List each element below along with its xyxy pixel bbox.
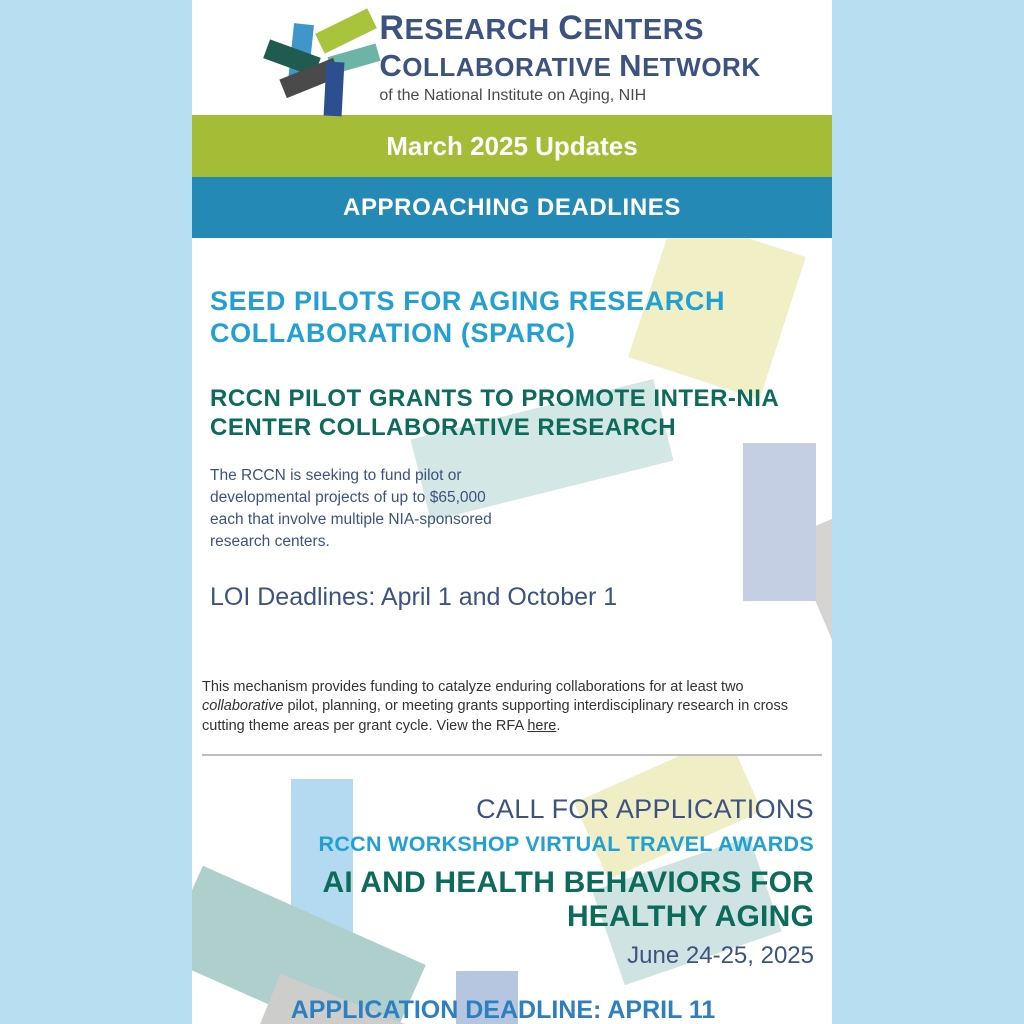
mechanism-text-part1: This mechanism provides funding to catal…: [202, 679, 744, 695]
logo-text-network: ETWORK: [642, 52, 761, 82]
section-sparc: SEED PILOTS FOR AGING RESEARCH COLLABORA…: [192, 238, 832, 670]
approaching-deadlines-banner: APPROACHING DEADLINES: [192, 177, 832, 238]
logo-text-research: ESEARCH: [404, 14, 558, 46]
logo: RESEARCH CENTERS COLLABORATIVE NETWORK o…: [263, 6, 760, 110]
sparc-content: SEED PILOTS FOR AGING RESEARCH COLLABORA…: [192, 238, 832, 612]
sparc-loi-deadlines: LOI Deadlines: April 1 and October 1: [210, 583, 832, 612]
logo-shape-navy-bar-icon: [324, 61, 345, 116]
rfa-here-link[interactable]: here: [527, 718, 556, 734]
rccn-logo-mark-icon: [263, 6, 367, 110]
travel-awards-content: CALL FOR APPLICATIONS RCCN WORKSHOP VIRT…: [192, 756, 832, 1024]
application-deadline-text: APPLICATION DEADLINE: APRIL 11: [192, 996, 814, 1024]
travel-awards-title: AI AND HEALTH BEHAVIORS FOR HEALTHY AGIN…: [192, 866, 814, 935]
logo-cap-c2: C: [379, 48, 402, 83]
logo-text-centers: ENTERS: [583, 14, 704, 46]
mechanism-text-italic: collaborative: [202, 698, 283, 714]
logo-line-1: RESEARCH CENTERS: [379, 11, 760, 45]
mechanism-paragraph: This mechanism provides funding to catal…: [192, 670, 832, 736]
logo-cap-n: N: [619, 48, 642, 83]
logo-line-2: COLLABORATIVE NETWORK: [379, 50, 760, 81]
logo-header: RESEARCH CENTERS COLLABORATIVE NETWORK o…: [192, 0, 832, 115]
sparc-heading-green: RCCN PILOT GRANTS TO PROMOTE INTER-NIA C…: [210, 385, 832, 443]
logo-tagline: of the National Institute on Aging, NIH: [379, 88, 760, 104]
logo-cap-r: R: [379, 9, 404, 47]
month-updates-banner: March 2025 Updates: [192, 115, 832, 177]
mechanism-text-part2: pilot, planning, or meeting grants suppo…: [202, 698, 788, 733]
newsletter-page: RESEARCH CENTERS COLLABORATIVE NETWORK o…: [0, 0, 1024, 1024]
travel-awards-subtitle: RCCN WORKSHOP VIRTUAL TRAVEL AWARDS: [192, 832, 814, 857]
newsletter-card: RESEARCH CENTERS COLLABORATIVE NETWORK o…: [192, 0, 832, 1024]
section-travel-awards: CALL FOR APPLICATIONS RCCN WORKSHOP VIRT…: [192, 756, 832, 1024]
logo-cap-c: C: [558, 9, 583, 47]
mechanism-text-part3: .: [556, 718, 560, 734]
sparc-body-text: The RCCN is seeking to fund pilot or dev…: [210, 465, 510, 553]
sparc-heading-blue: SEED PILOTS FOR AGING RESEARCH COLLABORA…: [210, 286, 832, 349]
call-for-applications-label: CALL FOR APPLICATIONS: [192, 794, 814, 824]
travel-awards-date: June 24-25, 2025: [192, 942, 814, 970]
logo-wordmark: RESEARCH CENTERS COLLABORATIVE NETWORK o…: [379, 11, 760, 104]
logo-text-collaborative: OLLABORATIVE: [402, 52, 619, 82]
